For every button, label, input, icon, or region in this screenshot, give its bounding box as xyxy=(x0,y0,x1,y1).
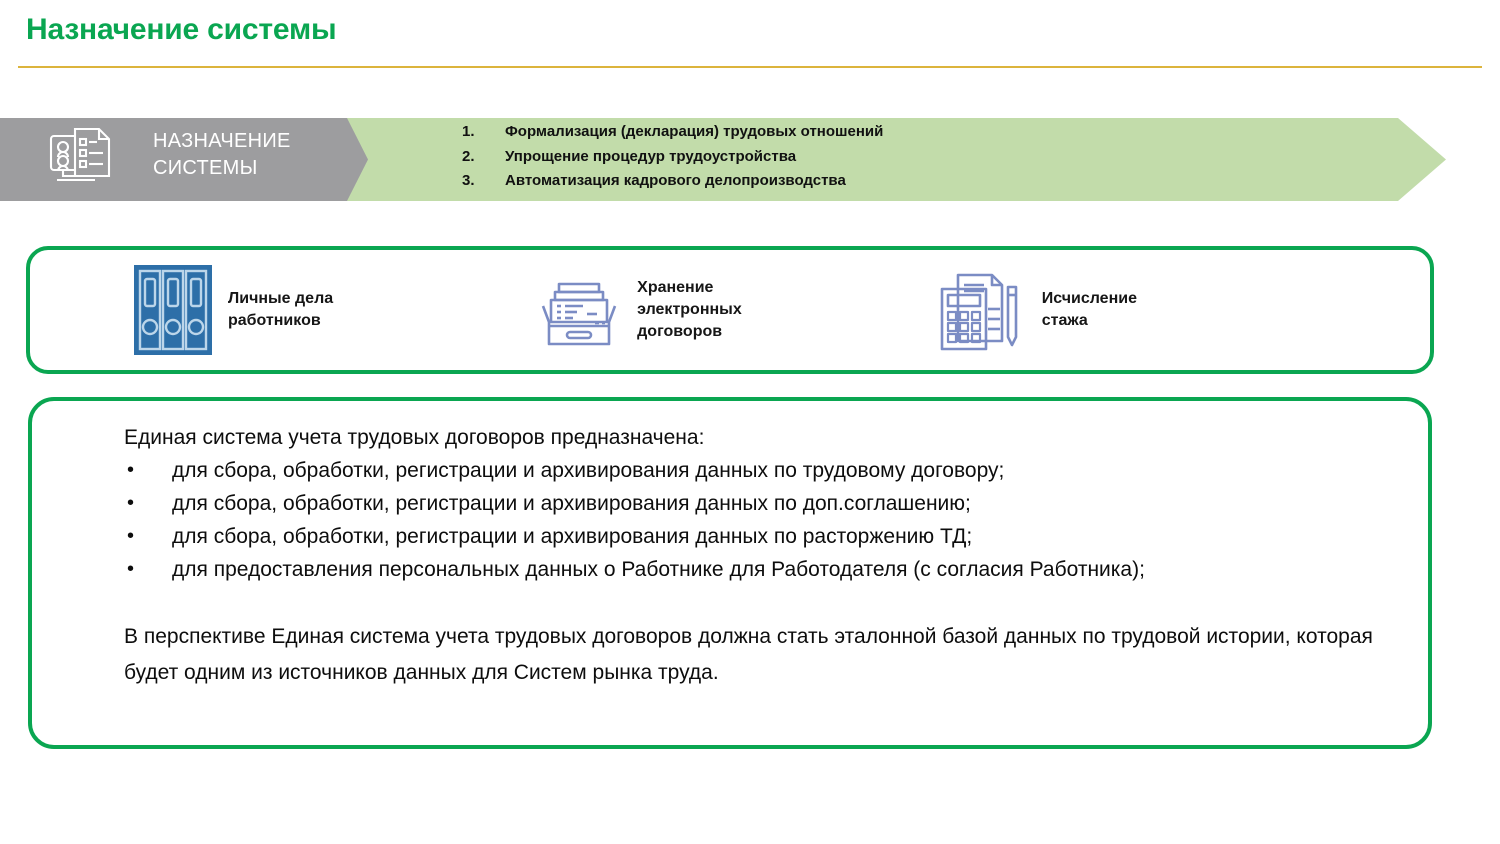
description-tail: В перспективе Единая система учета трудо… xyxy=(124,619,1384,691)
description-bullet: • для сбора, обработки, регистрации и ар… xyxy=(124,454,1384,487)
banner-label: НАЗНАЧЕНИЕ СИСТЕМЫ xyxy=(153,128,343,182)
spacer xyxy=(124,586,1384,619)
file-drawer-icon xyxy=(537,268,621,352)
title-divider xyxy=(18,66,1482,68)
description-bullet: • для предоставления персональных данных… xyxy=(124,553,1384,586)
bullet-marker: • xyxy=(124,520,172,553)
bullet-marker: • xyxy=(124,454,172,487)
banner-list-text: Формализация (декларация) трудовых отнош… xyxy=(505,120,883,145)
features-card: Личные дела работников xyxy=(26,246,1434,374)
banner-list-number: 3. xyxy=(462,169,505,194)
bullet-marker: • xyxy=(124,553,172,586)
bullet-text: для сбора, обработки, регистрации и архи… xyxy=(172,487,1384,520)
feature-label: Хранение электронных договоров xyxy=(637,277,742,343)
bullet-marker: • xyxy=(124,487,172,520)
banner-list-text: Автоматизация кадрового делопроизводства xyxy=(505,169,846,194)
calculator-document-pen-icon xyxy=(938,265,1026,355)
banner-list-item: 1. Формализация (декларация) трудовых от… xyxy=(462,120,1362,145)
features-list: Личные дела работников xyxy=(30,250,1430,370)
description-content: Единая система учета трудовых договоров … xyxy=(124,421,1384,691)
feature-item-contract-storage: Хранение электронных договоров xyxy=(537,268,742,352)
banner-list-number: 1. xyxy=(462,120,505,145)
banner-list-number: 2. xyxy=(462,145,505,170)
bullet-text: для сбора, обработки, регистрации и архи… xyxy=(172,520,1384,553)
bullet-text: для предоставления персональных данных о… xyxy=(172,553,1384,586)
description-card: Единая система учета трудовых договоров … xyxy=(28,397,1432,749)
feature-item-seniority: Исчисление стажа xyxy=(938,265,1137,355)
feature-item-personal-files: Личные дела работников xyxy=(134,265,333,355)
banner-list-item: 3. Автоматизация кадрового делопроизводс… xyxy=(462,169,1362,194)
slide: Назначение системы НАЗНАЧЕНИЕ СИСТЕМЫ xyxy=(0,0,1500,844)
feature-label: Личные дела работников xyxy=(228,288,333,332)
description-bullet: • для сбора, обработки, регистрации и ар… xyxy=(124,487,1384,520)
binders-icon xyxy=(134,265,212,355)
monitor-checklist-icon xyxy=(47,124,121,188)
banner-list-item: 2. Упрощение процедур трудоустройства xyxy=(462,145,1362,170)
page-title: Назначение системы xyxy=(26,13,336,47)
description-lead: Единая система учета трудовых договоров … xyxy=(124,421,1384,454)
banner-list-text: Упрощение процедур трудоустройства xyxy=(505,145,796,170)
banner-numbered-list: 1. Формализация (декларация) трудовых от… xyxy=(462,120,1362,194)
bullet-text: для сбора, обработки, регистрации и архи… xyxy=(172,454,1384,487)
feature-label: Исчисление стажа xyxy=(1042,288,1137,332)
description-bullet: • для сбора, обработки, регистрации и ар… xyxy=(124,520,1384,553)
